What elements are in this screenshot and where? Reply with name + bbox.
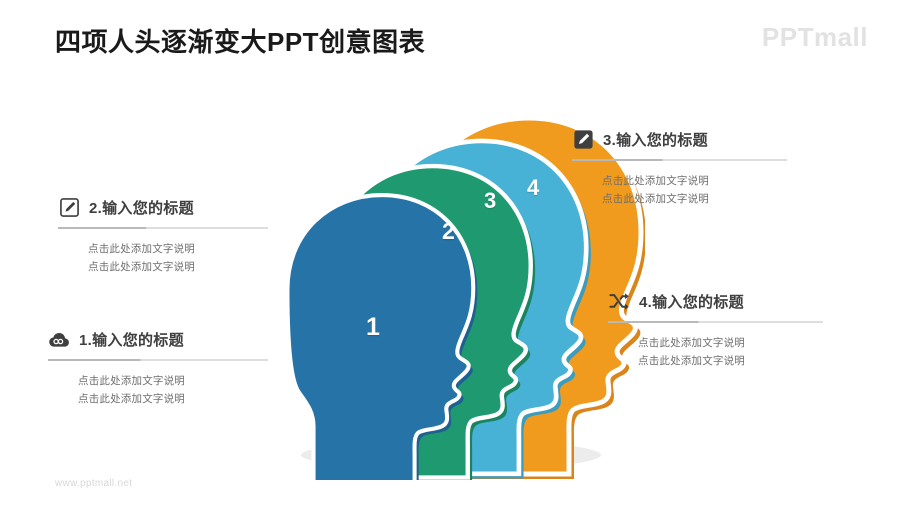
site-url-footer: www.pptmall.net (55, 478, 132, 489)
head-number-4: 4 (527, 175, 539, 201)
shuffle-arrows-icon (608, 290, 630, 312)
head-number-1: 1 (366, 313, 380, 342)
pencil-square-outline-icon (58, 196, 80, 218)
block-1-line-1: 点击此处添加文字说明 (78, 372, 268, 390)
text-block-1[interactable]: 1.输入您的标题 点击此处添加文字说明 点击此处添加文字说明 (48, 326, 268, 408)
block-3-line-2: 点击此处添加文字说明 (602, 190, 787, 208)
block-3-lines: 点击此处添加文字说明 点击此处添加文字说明 (572, 172, 787, 208)
block-1-title: 1.输入您的标题 (79, 329, 184, 350)
text-block-4[interactable]: 4.输入您的标题 点击此处添加文字说明 点击此处添加文字说明 (608, 288, 823, 370)
head-number-2: 2 (442, 218, 455, 245)
block-3-line-1: 点击此处添加文字说明 (602, 172, 787, 190)
block-1-lines: 点击此处添加文字说明 点击此处添加文字说明 (48, 372, 268, 408)
cloud-infinity-icon (48, 328, 70, 350)
block-2-title: 2.输入您的标题 (89, 197, 194, 218)
block-1-divider (48, 359, 268, 361)
block-2-header: 2.输入您的标题 (58, 194, 268, 220)
block-3-title: 3.输入您的标题 (603, 129, 708, 150)
block-4-line-1: 点击此处添加文字说明 (638, 334, 823, 352)
block-2-line-1: 点击此处添加文字说明 (88, 240, 268, 258)
block-4-divider (608, 321, 823, 323)
head-number-3: 3 (484, 188, 496, 214)
text-block-2[interactable]: 2.输入您的标题 点击此处添加文字说明 点击此处添加文字说明 (58, 194, 268, 276)
text-block-3[interactable]: 3.输入您的标题 点击此处添加文字说明 点击此处添加文字说明 (572, 126, 787, 208)
block-2-lines: 点击此处添加文字说明 点击此处添加文字说明 (58, 240, 268, 276)
page-title: 四项人头逐渐变大PPT创意图表 (55, 22, 425, 59)
block-4-title: 4.输入您的标题 (639, 291, 744, 312)
block-4-line-2: 点击此处添加文字说明 (638, 352, 823, 370)
block-3-divider (572, 159, 787, 161)
block-3-header: 3.输入您的标题 (572, 126, 787, 152)
block-1-header: 1.输入您的标题 (48, 326, 268, 352)
block-4-header: 4.输入您的标题 (608, 288, 823, 314)
pptmall-logo: PPTmall (762, 22, 868, 53)
block-1-line-2: 点击此处添加文字说明 (78, 390, 268, 408)
slide-canvas: 四项人头逐渐变大PPT创意图表 PPTmall www.pptmall.net (0, 0, 900, 506)
pencil-square-filled-icon (572, 128, 594, 150)
block-2-line-2: 点击此处添加文字说明 (88, 258, 268, 276)
block-4-lines: 点击此处添加文字说明 点击此处添加文字说明 (608, 334, 823, 370)
block-2-divider (58, 227, 268, 229)
